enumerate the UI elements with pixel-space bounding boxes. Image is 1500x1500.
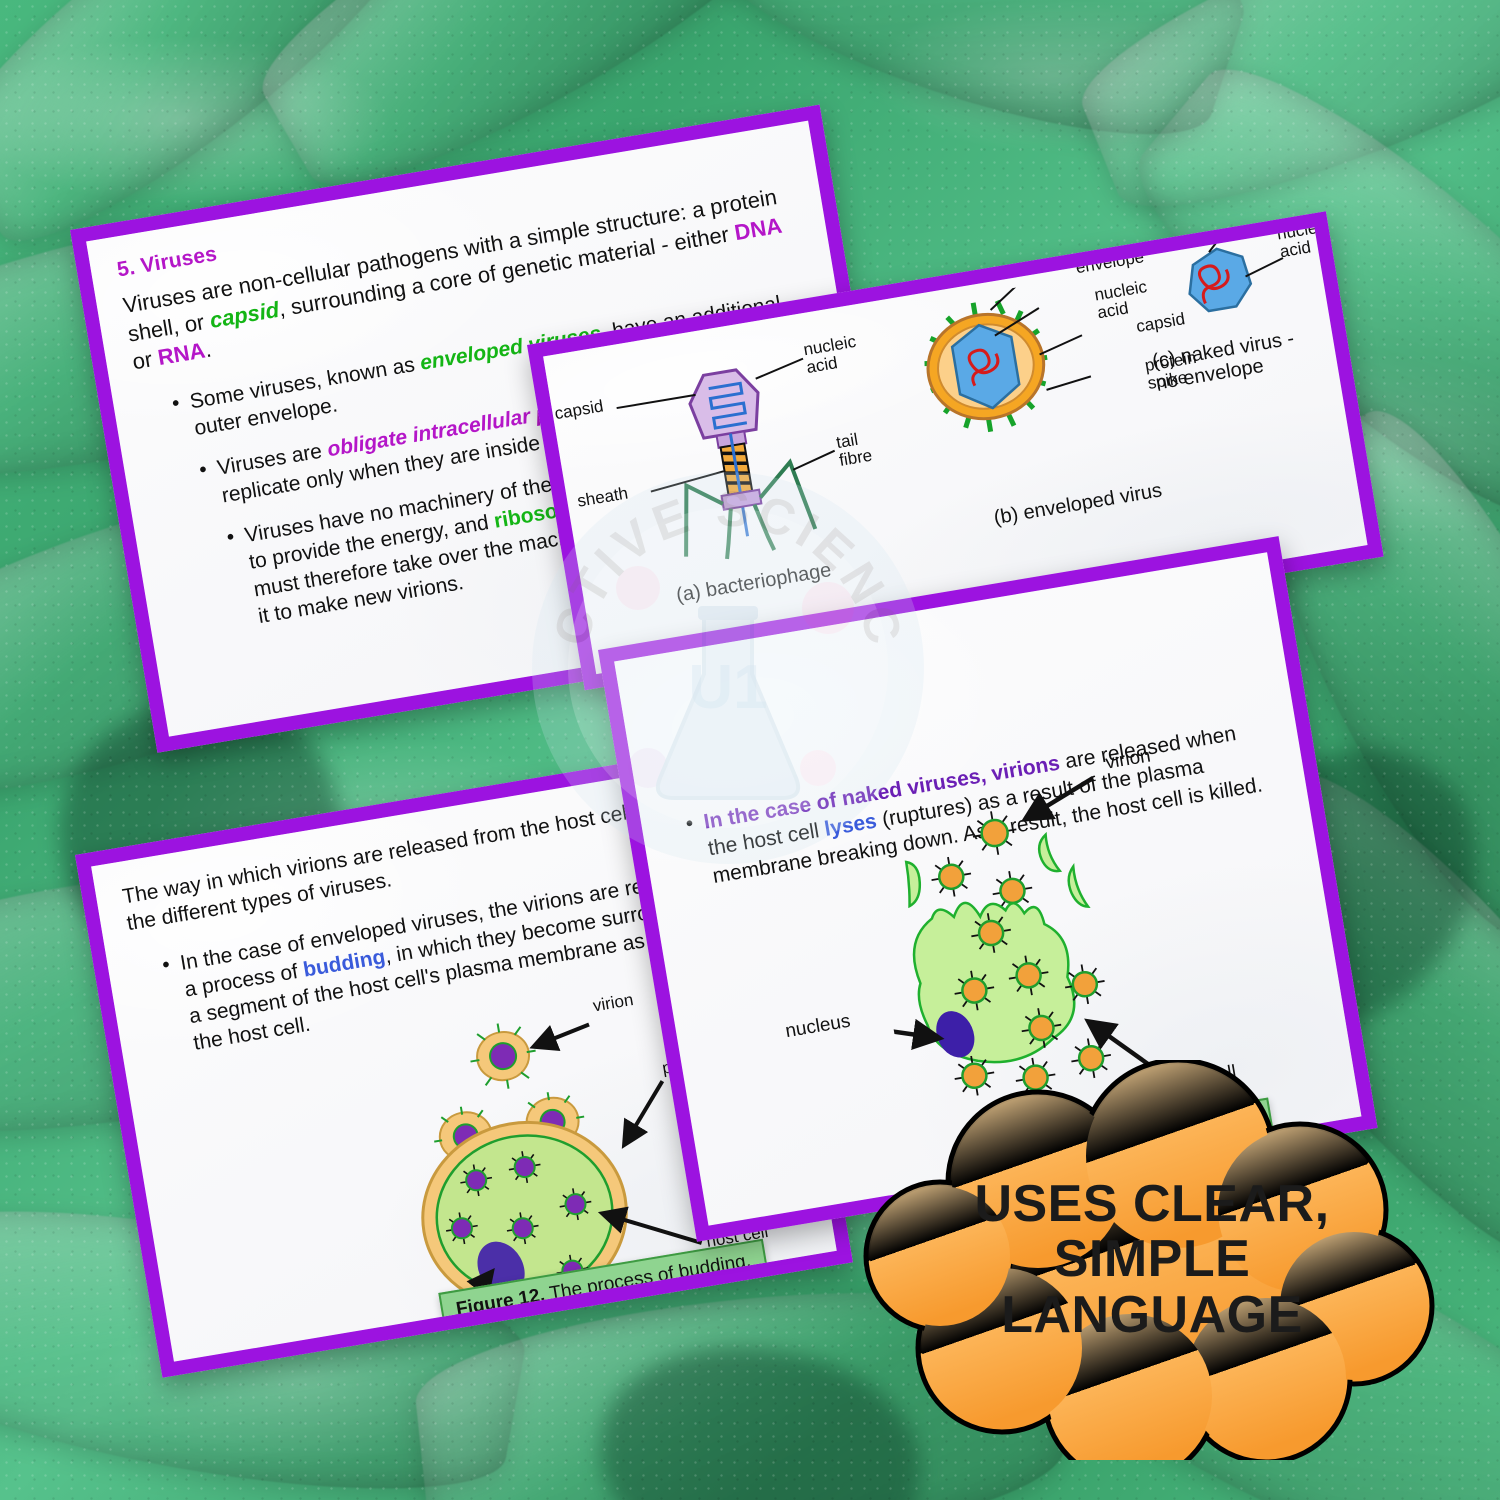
host-cell-shape (905, 888, 1084, 1074)
virion-free (465, 1018, 541, 1094)
para-text-c: or (131, 346, 160, 375)
label-nucleic-acid-naked: nucleic acid (1276, 217, 1334, 261)
badge-line-1: USES CLEAR, (974, 1177, 1329, 1232)
term-rna: RNA (156, 338, 207, 371)
uses-clear-simple-language-badge: USES CLEAR, SIMPLE LANGUAGE (862, 1060, 1442, 1460)
enveloped-virus-diagram (885, 276, 1115, 506)
capsid-shape (686, 367, 764, 440)
figure-12-prefix: Figure 12. (455, 1285, 547, 1321)
label-capsid-phage: capsid (553, 397, 604, 423)
badge-line-2: SIMPLE (1054, 1232, 1251, 1287)
label-sheath: sheath (576, 485, 629, 511)
term-dna: DNA (733, 212, 784, 245)
label-tail-fibre: tail fibre (835, 429, 874, 470)
badge-line-3: LANGUAGE (1001, 1288, 1303, 1343)
label-nucleus-lysis: nucleus (784, 1012, 852, 1042)
badge-text: USES CLEAR, SIMPLE LANGUAGE (862, 1060, 1442, 1460)
